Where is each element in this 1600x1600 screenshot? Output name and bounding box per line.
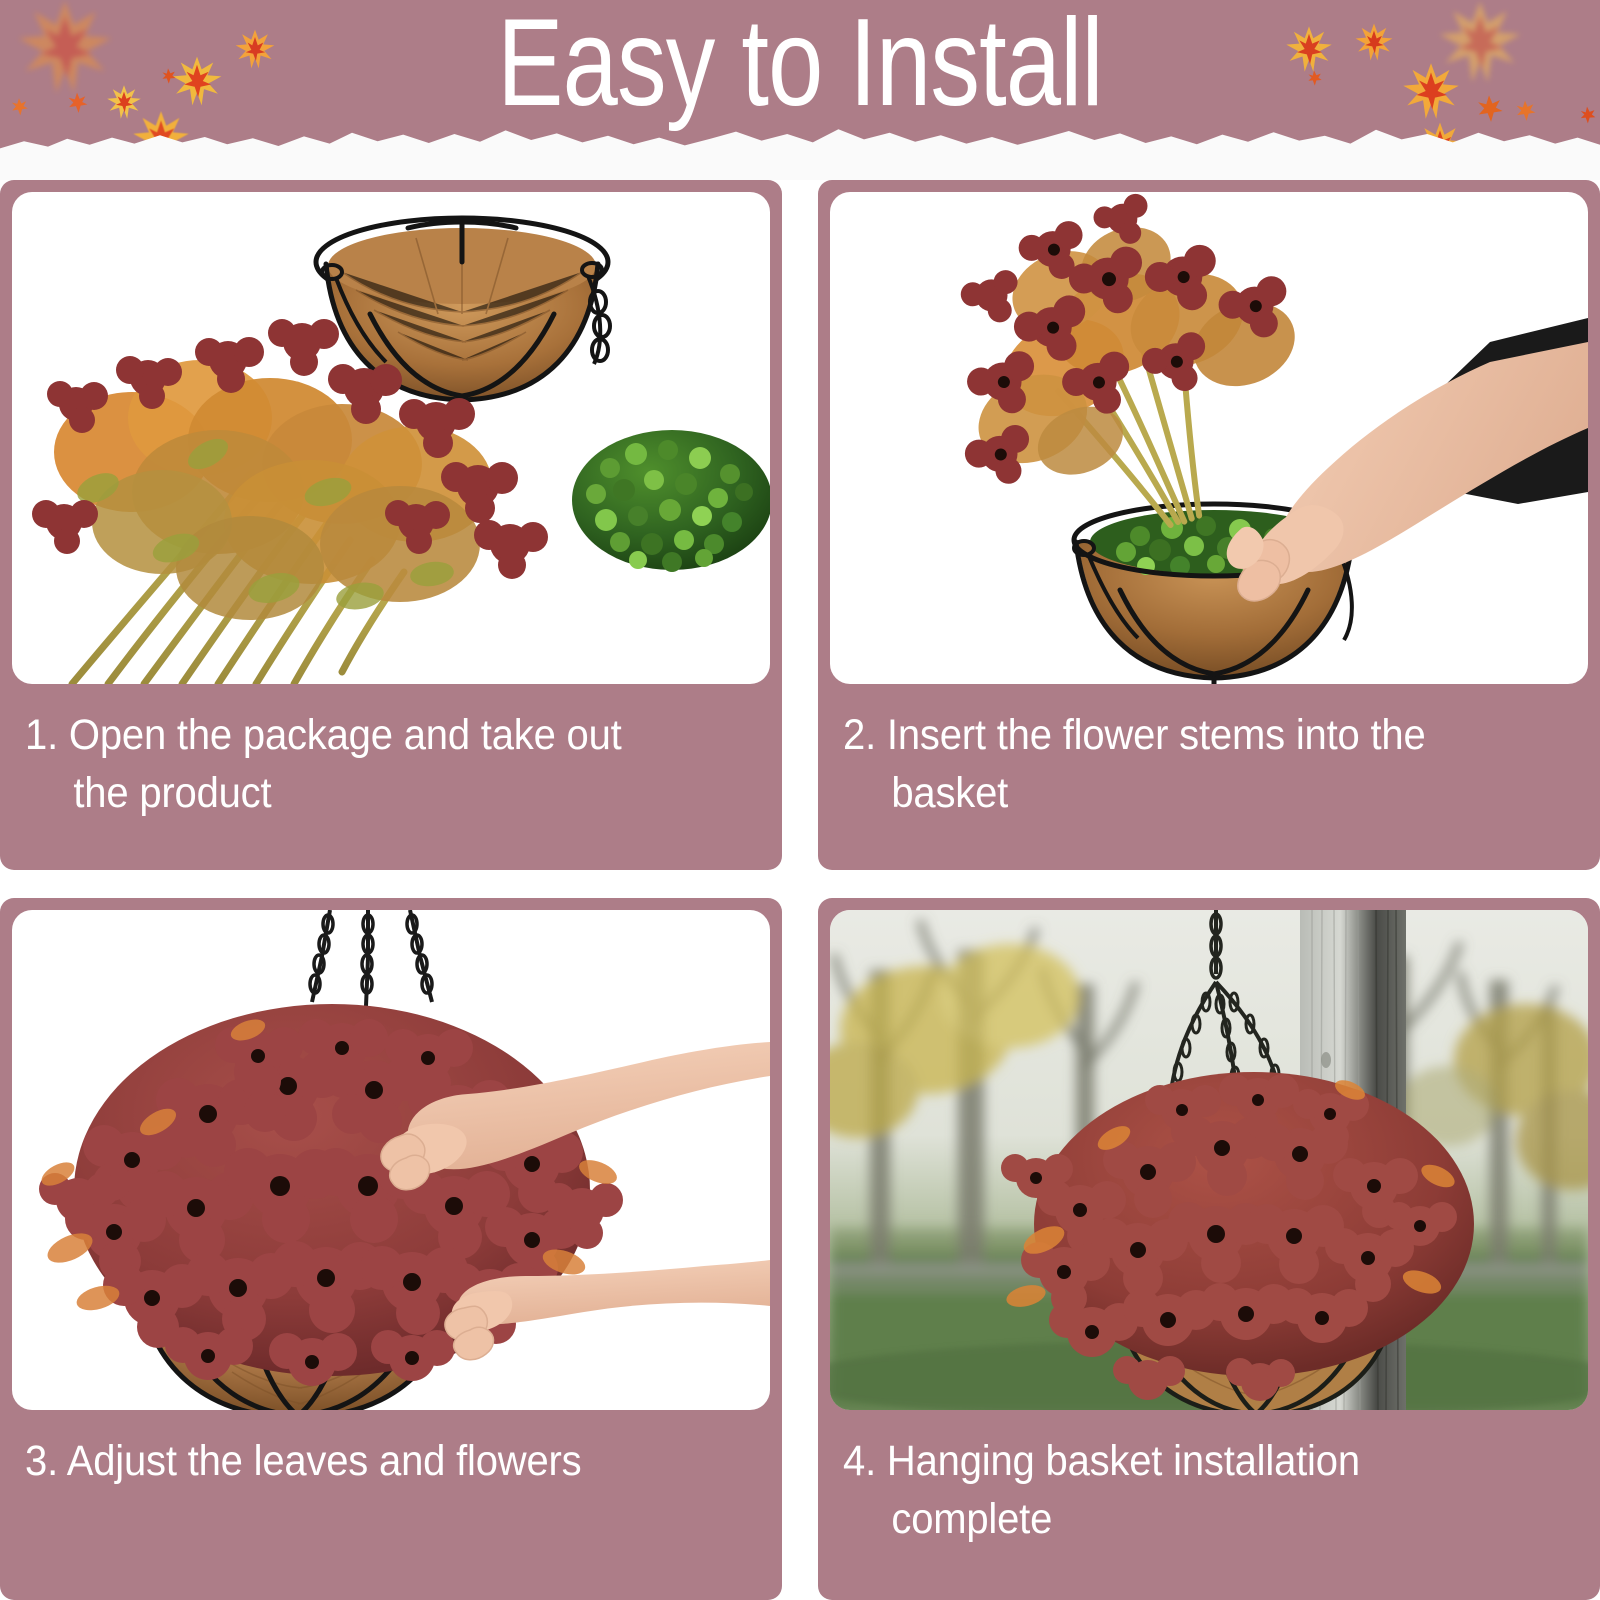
maple-leaf-icon: [1472, 92, 1506, 126]
step-3-photo: [12, 910, 770, 1410]
step-4-caption: 4. Hanging basket installation complete: [830, 1410, 1535, 1548]
step-3-caption: 3. Adjust the leaves and flowers: [12, 1410, 717, 1490]
step-card-3: 3. Adjust the leaves and flowers: [0, 898, 782, 1600]
step-1-photo: [12, 192, 770, 684]
step-4-caption-line2: complete: [843, 1490, 1522, 1548]
step-2-caption: 2. Insert the flower stems into the bask…: [830, 684, 1535, 822]
step-3-illustration: [12, 910, 770, 1410]
step-4-illustration: [830, 910, 1588, 1410]
header-banner: Easy to Install: [0, 0, 1600, 180]
step-4-caption-line1: 4. Hanging basket installation: [843, 1437, 1360, 1485]
maple-leaf-icon: [64, 90, 90, 116]
maple-leaf-icon: [1576, 104, 1598, 126]
step-3-caption-line1: 3. Adjust the leaves and flowers: [25, 1437, 581, 1485]
step-card-1: 1. Open the package and take out the pro…: [0, 180, 782, 870]
step-2-caption-line1: 2. Insert the flower stems into the: [843, 711, 1426, 759]
step-2-illustration: [830, 192, 1588, 684]
steps-grid: 1. Open the package and take out the pro…: [0, 180, 1600, 1600]
boxwood-ball: [572, 430, 770, 572]
step-1-caption-line2: the product: [25, 764, 704, 822]
step-card-2: 2. Insert the flower stems into the bask…: [818, 180, 1600, 870]
maple-leaf-icon: [8, 96, 30, 118]
step-2-photo: [830, 192, 1588, 684]
step-4-photo: [830, 910, 1588, 1410]
maple-leaf-icon: [1512, 98, 1538, 124]
page-title: Easy to Install: [160, 0, 1440, 138]
step-1-caption-line1: 1. Open the package and take out: [25, 711, 622, 759]
flower-dome: [38, 1004, 623, 1386]
step-1-caption: 1. Open the package and take out the pro…: [12, 684, 717, 822]
hanging-chains: [310, 910, 432, 1006]
step-card-4: 4. Hanging basket installation complete: [818, 898, 1600, 1600]
step-1-illustration: [12, 192, 770, 684]
step-2-caption-line2: basket: [843, 764, 1522, 822]
